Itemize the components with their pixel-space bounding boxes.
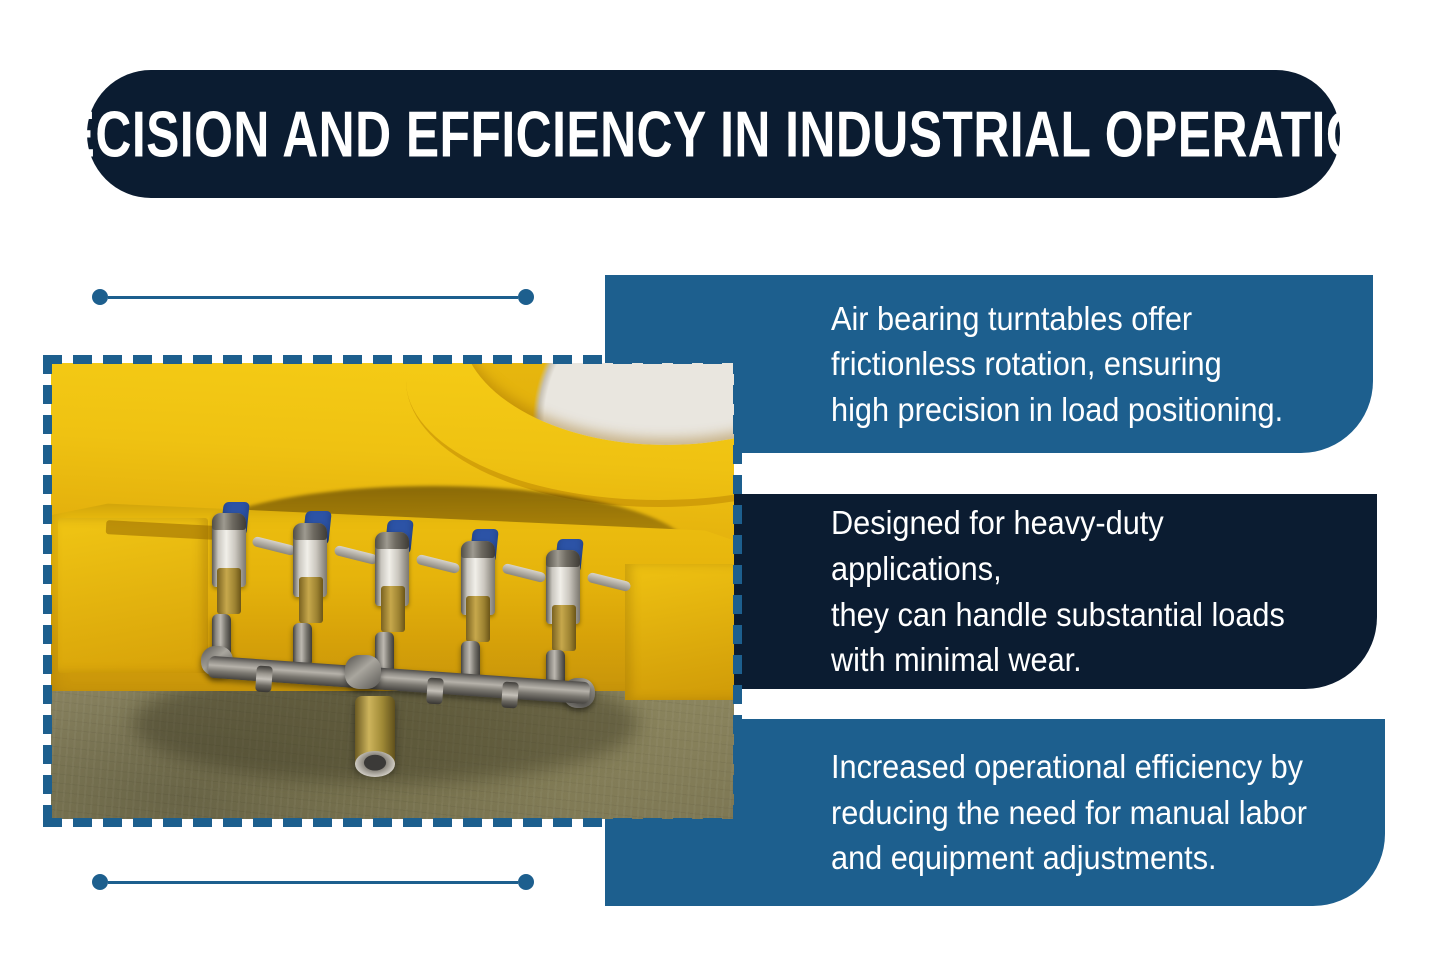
dash-top	[463, 355, 482, 364]
info-panel-2-text: Designed for heavy-duty applications, th…	[831, 500, 1339, 682]
valve-brass-5	[552, 605, 576, 651]
dash-left	[43, 565, 52, 584]
dash-left	[43, 595, 52, 614]
dash-bottom	[373, 818, 392, 827]
dash-bottom	[283, 818, 302, 827]
dash-bottom	[463, 818, 482, 827]
dash-top	[283, 355, 302, 364]
decorative-rule-top	[92, 289, 534, 305]
dash-right	[733, 805, 742, 824]
valve-cap-5	[546, 550, 580, 567]
dash-bottom	[613, 818, 632, 827]
dash-top	[373, 355, 392, 364]
dash-top	[133, 355, 152, 364]
dash-left	[43, 385, 52, 404]
dash-top	[643, 355, 662, 364]
dash-left	[43, 505, 52, 524]
dash-bottom	[493, 818, 512, 827]
dash-right	[733, 355, 742, 374]
dash-left	[43, 355, 52, 374]
dash-bottom	[103, 818, 122, 827]
dash-bottom	[583, 818, 602, 827]
dash-top	[523, 355, 542, 364]
air-outlet-opening	[355, 751, 395, 777]
dash-left	[43, 775, 52, 794]
valve-cap-4	[461, 541, 495, 558]
rule-bar	[108, 296, 518, 299]
dash-top	[703, 355, 722, 364]
info-panel-3-text: Increased operational efficiency by redu…	[831, 744, 1307, 881]
dash-right	[733, 565, 742, 584]
dash-bottom	[223, 818, 242, 827]
dash-left	[43, 535, 52, 554]
dash-top	[313, 355, 332, 364]
dash-top	[163, 355, 182, 364]
dash-left	[43, 445, 52, 464]
rule-bar	[108, 881, 518, 884]
dash-right	[733, 445, 742, 464]
drop-pipe-2	[293, 623, 312, 667]
dash-right	[733, 385, 742, 404]
dash-top	[433, 355, 452, 364]
pipe-coupling-3	[501, 682, 519, 709]
dash-right	[733, 595, 742, 614]
rule-dot-right-icon	[518, 874, 534, 890]
dash-right	[733, 505, 742, 524]
pipe-coupling-2	[426, 677, 444, 704]
dash-top	[493, 355, 512, 364]
valve-brass-4	[466, 596, 490, 642]
skirt-right-panel	[625, 564, 734, 701]
dash-bottom	[193, 818, 212, 827]
dash-top	[583, 355, 602, 364]
valve-brass-3	[381, 586, 405, 632]
title-banner: PRECISION AND EFFICIENCY IN INDUSTRIAL O…	[87, 70, 1340, 198]
valve-cap-1	[212, 513, 246, 530]
skirt-left-panel	[58, 518, 208, 673]
dash-right	[733, 715, 742, 734]
dash-bottom	[433, 818, 452, 827]
info-panel-1-text: Air bearing turntables offer frictionles…	[831, 296, 1283, 433]
dash-right	[733, 775, 742, 794]
dash-right	[733, 745, 742, 764]
dash-bottom	[313, 818, 332, 827]
dash-left	[43, 805, 52, 824]
rule-dot-left-icon	[92, 289, 108, 305]
dash-top	[253, 355, 272, 364]
dash-top	[673, 355, 692, 364]
dash-left	[43, 685, 52, 704]
valve-cap-3	[375, 532, 409, 549]
dash-top	[553, 355, 572, 364]
dash-right	[733, 535, 742, 554]
dash-bottom	[403, 818, 422, 827]
dash-bottom	[343, 818, 362, 827]
page-title: PRECISION AND EFFICIENCY IN INDUSTRIAL O…	[0, 96, 1430, 171]
dash-left	[43, 475, 52, 494]
valve-brass-1	[217, 568, 241, 614]
dash-right	[733, 625, 742, 644]
dash-right	[733, 655, 742, 674]
dash-bottom	[163, 818, 182, 827]
pipe-coupling-1	[255, 666, 273, 693]
dash-top	[613, 355, 632, 364]
dash-left	[43, 415, 52, 434]
dash-left	[43, 745, 52, 764]
turntable-photo	[51, 363, 734, 819]
rule-dot-left-icon	[92, 874, 108, 890]
dash-left	[43, 715, 52, 734]
infographic-canvas: PRECISION AND EFFICIENCY IN INDUSTRIAL O…	[0, 0, 1430, 968]
dash-top	[73, 355, 92, 364]
dash-top	[223, 355, 242, 364]
dash-bottom	[553, 818, 572, 827]
dash-bottom	[73, 818, 92, 827]
dash-top	[343, 355, 362, 364]
valve-cap-2	[293, 523, 327, 540]
dash-bottom	[523, 818, 542, 827]
dash-top	[103, 355, 122, 364]
dash-right	[733, 415, 742, 434]
dash-right	[733, 475, 742, 494]
pipe-tee	[345, 655, 381, 689]
photo-dashed-frame	[43, 355, 742, 827]
valve-brass-2	[299, 577, 323, 623]
dash-bottom	[643, 818, 662, 827]
dash-top	[403, 355, 422, 364]
dash-left	[43, 625, 52, 644]
decorative-rule-bottom	[92, 874, 534, 890]
dash-bottom	[253, 818, 272, 827]
dash-right	[733, 685, 742, 704]
rule-dot-right-icon	[518, 289, 534, 305]
dash-bottom	[133, 818, 152, 827]
dash-bottom	[703, 818, 722, 827]
dash-top	[193, 355, 212, 364]
dash-bottom	[673, 818, 692, 827]
dash-left	[43, 655, 52, 674]
